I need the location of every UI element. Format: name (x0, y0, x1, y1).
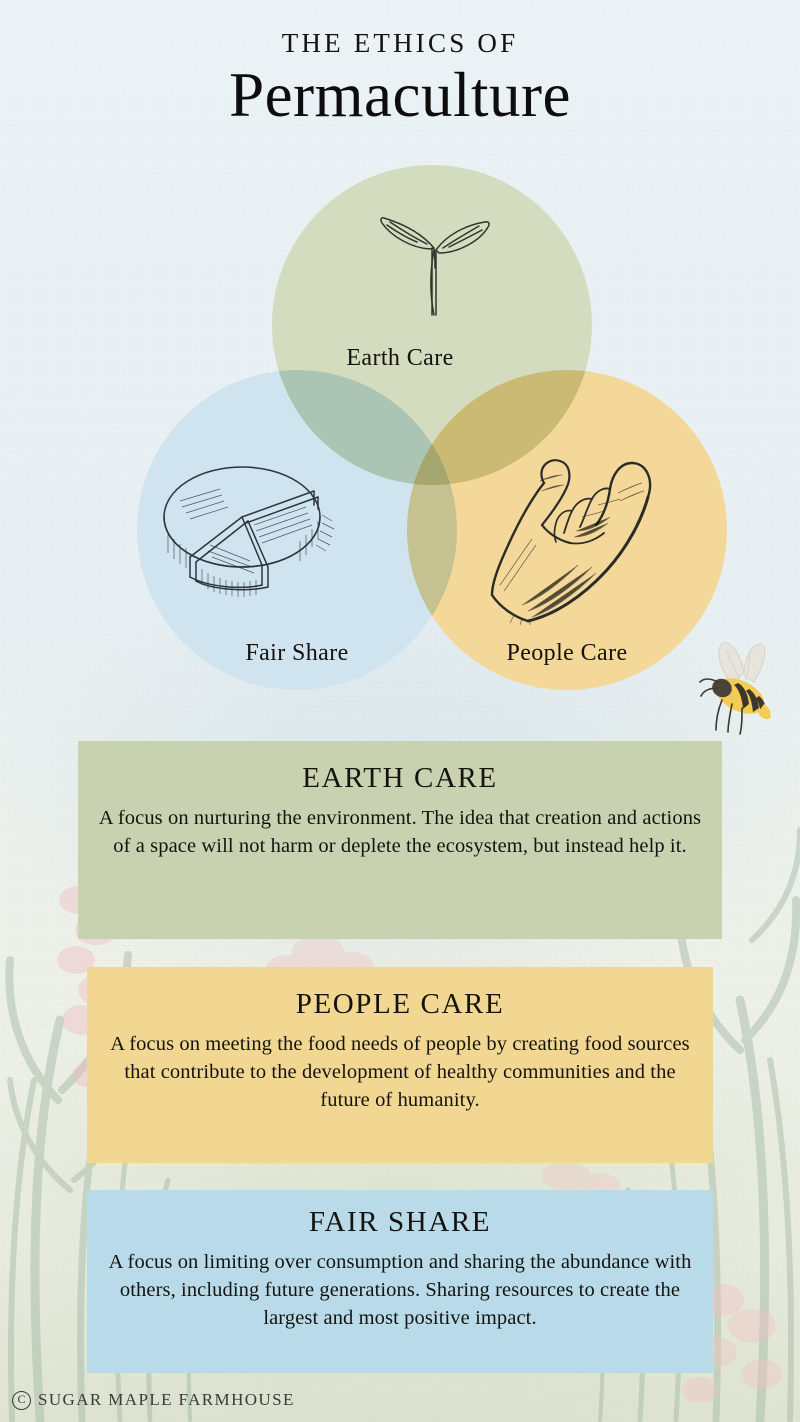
pie-chart-sketch-icon (150, 445, 345, 620)
page-title: Permaculture (0, 61, 800, 129)
ethic-heading-fair-share: FAIR SHARE (105, 1206, 695, 1239)
ethic-body-fair-share: A focus on limiting over consumption and… (105, 1248, 695, 1332)
open-hand-icon (470, 445, 670, 625)
brand-name: SUGAR MAPLE FARMHOUSE (38, 1390, 295, 1410)
ethic-block-earth-care: EARTH CARE A focus on nurturing the envi… (78, 741, 722, 939)
ethic-block-people-care: PEOPLE CARE A focus on meeting the food … (87, 967, 713, 1163)
ethic-heading-people-care: PEOPLE CARE (105, 988, 695, 1021)
eyebrow-text: THE ETHICS OF (0, 28, 800, 59)
venn-label-people-care: People Care (407, 640, 727, 667)
venn-label-earth-care: Earth Care (0, 345, 800, 372)
seedling-icon (357, 170, 507, 320)
ethic-heading-earth-care: EARTH CARE (96, 762, 704, 795)
copyright-icon: C (12, 1391, 31, 1410)
bee-icon (688, 638, 792, 738)
infographic-poster: THE ETHICS OF Permaculture (0, 0, 800, 1422)
ethic-body-people-care: A focus on meeting the food needs of peo… (105, 1030, 695, 1114)
ethic-block-fair-share: FAIR SHARE A focus on limiting over cons… (87, 1190, 713, 1373)
venn-diagram: Earth Care Fair Share People Care (0, 150, 800, 710)
poster-header: THE ETHICS OF Permaculture (0, 0, 800, 129)
footer-credit: C SUGAR MAPLE FARMHOUSE (12, 1390, 295, 1410)
ethic-body-earth-care: A focus on nurturing the environment. Th… (96, 804, 704, 860)
